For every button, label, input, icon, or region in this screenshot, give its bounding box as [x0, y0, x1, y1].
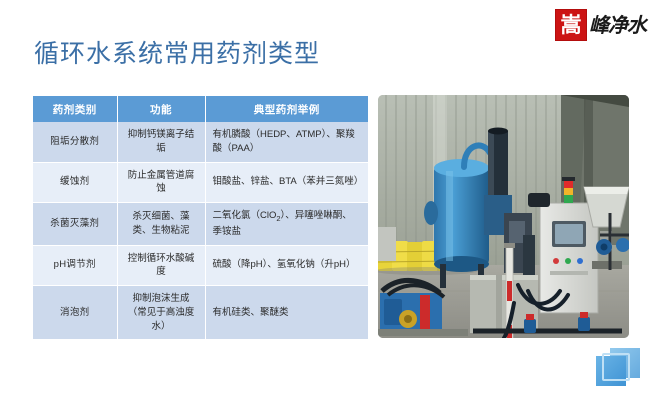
cell-examples: 硫酸（降pH）、氢氧化钠（升pH） [205, 245, 368, 286]
blue-squares-accent [596, 348, 642, 388]
table-row: pH调节剂 控制循环水酸碱度 硫酸（降pH）、氢氧化钠（升pH） [33, 245, 368, 286]
equipment-photo-illustration [378, 95, 629, 338]
table-header: 药剂类别 功能 典型药剂举例 [33, 96, 368, 122]
table-row: 杀菌灭藻剂 杀灭细菌、藻类、生物粘泥 二氧化氯（ClO2）、异噻唑啉酮、季铵盐 [33, 203, 368, 246]
cell-examples: 二氧化氯（ClO2）、异噻唑啉酮、季铵盐 [205, 203, 368, 246]
cell-category: 缓蚀剂 [33, 162, 117, 203]
cell-function: 抑制泡沫生成（常见于高浊度水） [117, 286, 205, 340]
table-row: 缓蚀剂 防止金属管道腐蚀 钼酸盐、锌盐、BTA（苯并三氮唑） [33, 162, 368, 203]
column-header-function: 功能 [117, 96, 205, 122]
table-body: 阻垢分散剂 抑制钙镁离子结垢 有机膦酸（HEDP、ATMP）、聚羧酸（PAA） … [33, 122, 368, 340]
chemicals-table-container: 药剂类别 功能 典型药剂举例 阻垢分散剂 抑制钙镁离子结垢 有机膦酸（HEDP、… [33, 96, 368, 340]
column-header-category: 药剂类别 [33, 96, 117, 122]
cell-function: 控制循环水酸碱度 [117, 245, 205, 286]
page-title: 循环水系统常用药剂类型 [34, 34, 320, 70]
equipment-photo [378, 95, 629, 338]
table-row: 消泡剂 抑制泡沫生成（常见于高浊度水） 有机硅类、聚醚类 [33, 286, 368, 340]
slide-canvas: 嵩 峰净水 循环水系统常用药剂类型 药剂类别 功能 典型药剂举例 阻垢分散剂 抑… [0, 0, 660, 400]
table-row: 阻垢分散剂 抑制钙镁离子结垢 有机膦酸（HEDP、ATMP）、聚羧酸（PAA） [33, 122, 368, 162]
cell-function: 杀灭细菌、藻类、生物粘泥 [117, 203, 205, 246]
column-header-examples: 典型药剂举例 [205, 96, 368, 122]
company-logo: 嵩 峰净水 [555, 8, 646, 42]
cell-category: 杀菌灭藻剂 [33, 203, 117, 246]
examples-prefix: 二氧化氯（ClO [213, 210, 277, 221]
cell-function: 抑制钙镁离子结垢 [117, 122, 205, 162]
cell-category: 阻垢分散剂 [33, 122, 117, 162]
seal-stamp-icon: 嵩 [555, 9, 587, 41]
logo-wordmark: 峰净水 [589, 10, 646, 40]
cell-examples: 钼酸盐、锌盐、BTA（苯并三氮唑） [205, 162, 368, 203]
cell-examples: 有机膦酸（HEDP、ATMP）、聚羧酸（PAA） [205, 122, 368, 162]
cell-category: 消泡剂 [33, 286, 117, 340]
chemicals-table: 药剂类别 功能 典型药剂举例 阻垢分散剂 抑制钙镁离子结垢 有机膦酸（HEDP、… [33, 96, 368, 340]
cell-category: pH调节剂 [33, 245, 117, 286]
cell-function: 防止金属管道腐蚀 [117, 162, 205, 203]
table-header-row: 药剂类别 功能 典型药剂举例 [33, 96, 368, 122]
accent-square-outline [602, 353, 630, 381]
cell-examples: 有机硅类、聚醚类 [205, 286, 368, 340]
